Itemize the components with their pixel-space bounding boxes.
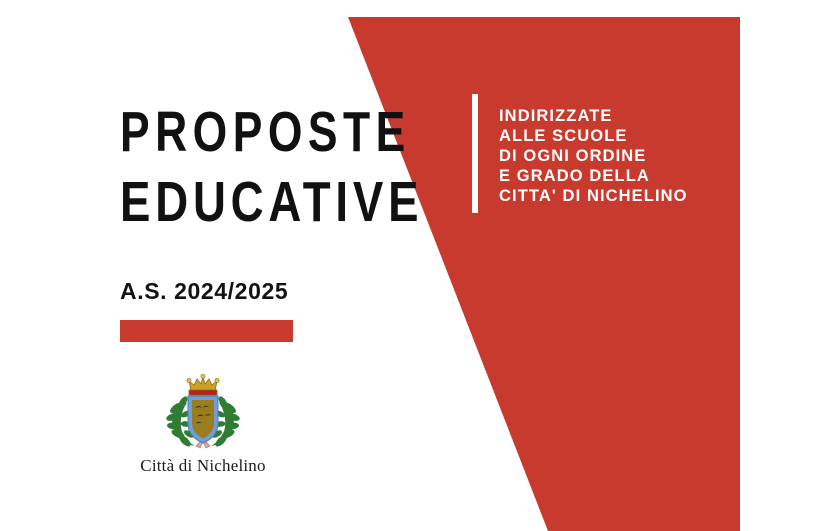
city-emblem: Città di Nichelino	[128, 372, 278, 476]
audience-line-2: ALLE SCUOLE	[499, 126, 688, 146]
audience-block: INDIRIZZATE ALLE SCUOLE DI OGNI ORDINE E…	[472, 94, 688, 213]
coat-of-arms-icon	[157, 372, 249, 454]
accent-bar	[120, 320, 293, 342]
audience-lines: INDIRIZZATE ALLE SCUOLE DI OGNI ORDINE E…	[499, 106, 688, 206]
vertical-rule	[472, 94, 478, 213]
poster-canvas: PROPOSTE EDUCATIVE A.S. 2024/2025	[0, 0, 815, 531]
academic-year-label: A.S. 2024/2025	[120, 278, 288, 305]
audience-line-3: DI OGNI ORDINE	[499, 146, 688, 166]
page-title-line-2: EDUCATIVE	[120, 176, 360, 228]
audience-line-4: E GRADO DELLA	[499, 166, 688, 186]
audience-line-5: CITTA' DI NICHELINO	[499, 186, 688, 206]
red-angled-shape	[0, 0, 815, 531]
page-title: PROPOSTE EDUCATIVE	[120, 106, 420, 229]
emblem-caption: Città di Nichelino	[128, 456, 278, 476]
page-title-line-1: PROPOSTE	[120, 106, 354, 158]
audience-line-1: INDIRIZZATE	[499, 106, 688, 126]
